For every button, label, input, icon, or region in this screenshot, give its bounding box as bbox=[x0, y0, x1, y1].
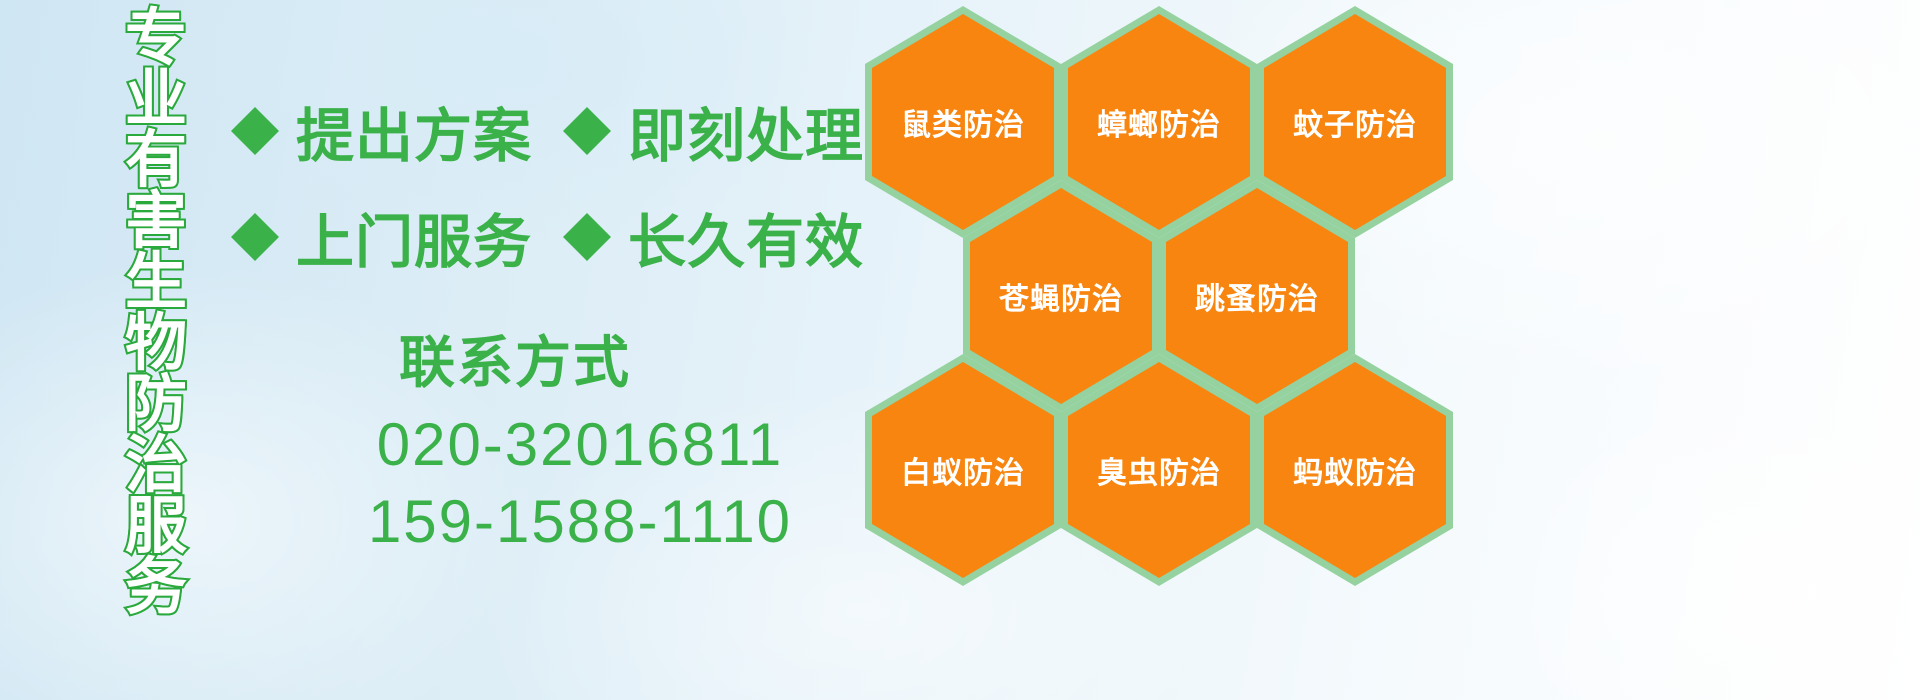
background-glow-bottom-right bbox=[1480, 380, 1920, 700]
feature-list: 提出方案 即刻处理 上门服务 长久有效 bbox=[228, 78, 868, 290]
contact-block: 联系方式 020-32016811 159-1588-1110 bbox=[300, 318, 860, 561]
diamond-icon bbox=[228, 210, 282, 264]
diamond-icon bbox=[228, 104, 282, 158]
feature-item-onsite-service: 上门服务 bbox=[228, 195, 532, 279]
contact-phone-landline[interactable]: 020-32016811 bbox=[300, 407, 860, 484]
hex-label: 苍蝇防治 bbox=[999, 274, 1123, 318]
contact-title: 联系方式 bbox=[170, 318, 860, 399]
feature-item-long-lasting: 长久有效 bbox=[560, 195, 864, 279]
vertical-headline: 专 业 有 害 生 物 防 治 服 务 bbox=[108, 8, 204, 568]
service-honeycomb: 鼠类防治 蟑螂防治 蚊子防治 苍蝇防治 跳蚤防治 白蚁防治 臭虫防治 bbox=[855, 0, 1475, 700]
feature-label: 即刻处理 bbox=[628, 89, 864, 173]
hex-label: 蚊子防治 bbox=[1293, 100, 1417, 144]
vertical-headline-char: 务 bbox=[125, 557, 187, 618]
diamond-icon bbox=[560, 210, 614, 264]
vertical-headline-char: 服 bbox=[125, 496, 187, 557]
vertical-headline-char: 治 bbox=[125, 435, 187, 496]
feature-label: 上门服务 bbox=[296, 195, 532, 279]
vertical-headline-char: 生 bbox=[125, 252, 187, 313]
diamond-icon bbox=[560, 104, 614, 158]
hex-label: 鼠类防治 bbox=[901, 100, 1025, 144]
contact-phone-mobile[interactable]: 159-1588-1110 bbox=[300, 484, 860, 561]
feature-row: 上门服务 长久有效 bbox=[228, 184, 868, 290]
hex-label: 臭虫防治 bbox=[1097, 448, 1221, 492]
hex-label: 白蚁防治 bbox=[901, 448, 1025, 492]
vertical-headline-char: 专 bbox=[125, 8, 187, 69]
pest-control-banner: 专 业 有 害 生 物 防 治 服 务 提出方案 即刻处理 bbox=[0, 0, 1920, 700]
hex-label: 蚂蚁防治 bbox=[1293, 448, 1417, 492]
vertical-headline-char: 有 bbox=[125, 130, 187, 191]
feature-row: 提出方案 即刻处理 bbox=[228, 78, 868, 184]
feature-label: 长久有效 bbox=[628, 195, 864, 279]
hex-label: 跳蚤防治 bbox=[1195, 274, 1319, 318]
vertical-headline-char: 害 bbox=[125, 191, 187, 252]
vertical-headline-char: 业 bbox=[125, 69, 187, 130]
feature-item-propose-plan: 提出方案 bbox=[228, 89, 532, 173]
feature-item-immediate-handling: 即刻处理 bbox=[560, 89, 864, 173]
hex-label: 蟑螂防治 bbox=[1097, 100, 1221, 144]
feature-label: 提出方案 bbox=[296, 89, 532, 173]
